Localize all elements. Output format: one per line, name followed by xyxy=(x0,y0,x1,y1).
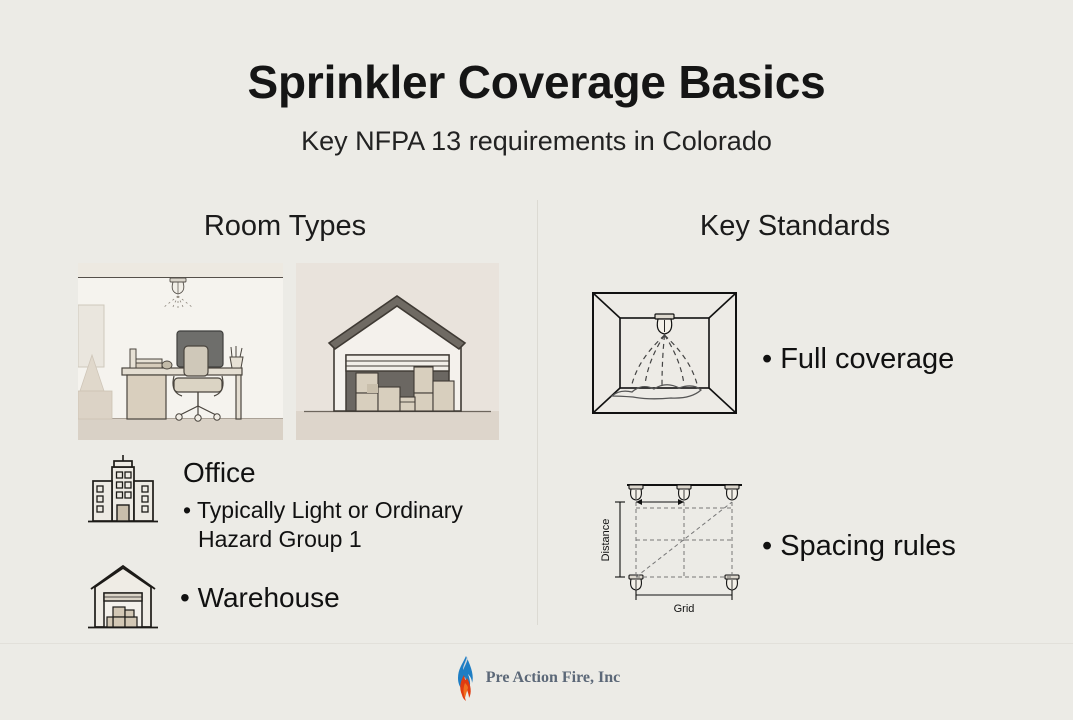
section-heading-room-types: Room Types xyxy=(40,210,530,243)
page-subtitle: Key NFPA 13 requirements in Colorado xyxy=(0,126,1073,157)
standard-label-full-coverage: • Full coverage xyxy=(762,343,954,376)
page-title: Sprinkler Coverage Basics xyxy=(0,55,1073,109)
room-type-detail-office: • Typically Light or Ordinary Hazard Gro… xyxy=(183,496,528,555)
column-divider xyxy=(537,200,538,625)
standard-label-spacing-rules: • Spacing rules xyxy=(762,530,956,563)
footer-divider xyxy=(0,643,1073,644)
section-heading-key-standards: Key Standards xyxy=(560,210,1030,243)
spacing-label-distance: Distance xyxy=(600,519,612,562)
flame-icon xyxy=(453,655,479,701)
room-type-label-office: Office xyxy=(183,457,256,489)
slide-canvas: Sprinkler Coverage Basics Key NFPA 13 re… xyxy=(0,0,1073,720)
room-full-coverage-diagram xyxy=(592,292,737,414)
warehouse-illustration xyxy=(296,263,499,440)
spacing-label-grid: Grid xyxy=(674,603,695,615)
sprinkler-spacing-grid-diagram: Distance Grid xyxy=(592,476,750,616)
room-type-label-warehouse: • Warehouse xyxy=(180,582,340,614)
warehouse-building-icon xyxy=(85,563,161,635)
footer-logo: Pre Action Fire, Inc xyxy=(0,655,1073,701)
office-illustration xyxy=(78,263,283,440)
office-building-icon xyxy=(85,455,161,527)
footer-company-name: Pre Action Fire, Inc xyxy=(486,669,621,687)
